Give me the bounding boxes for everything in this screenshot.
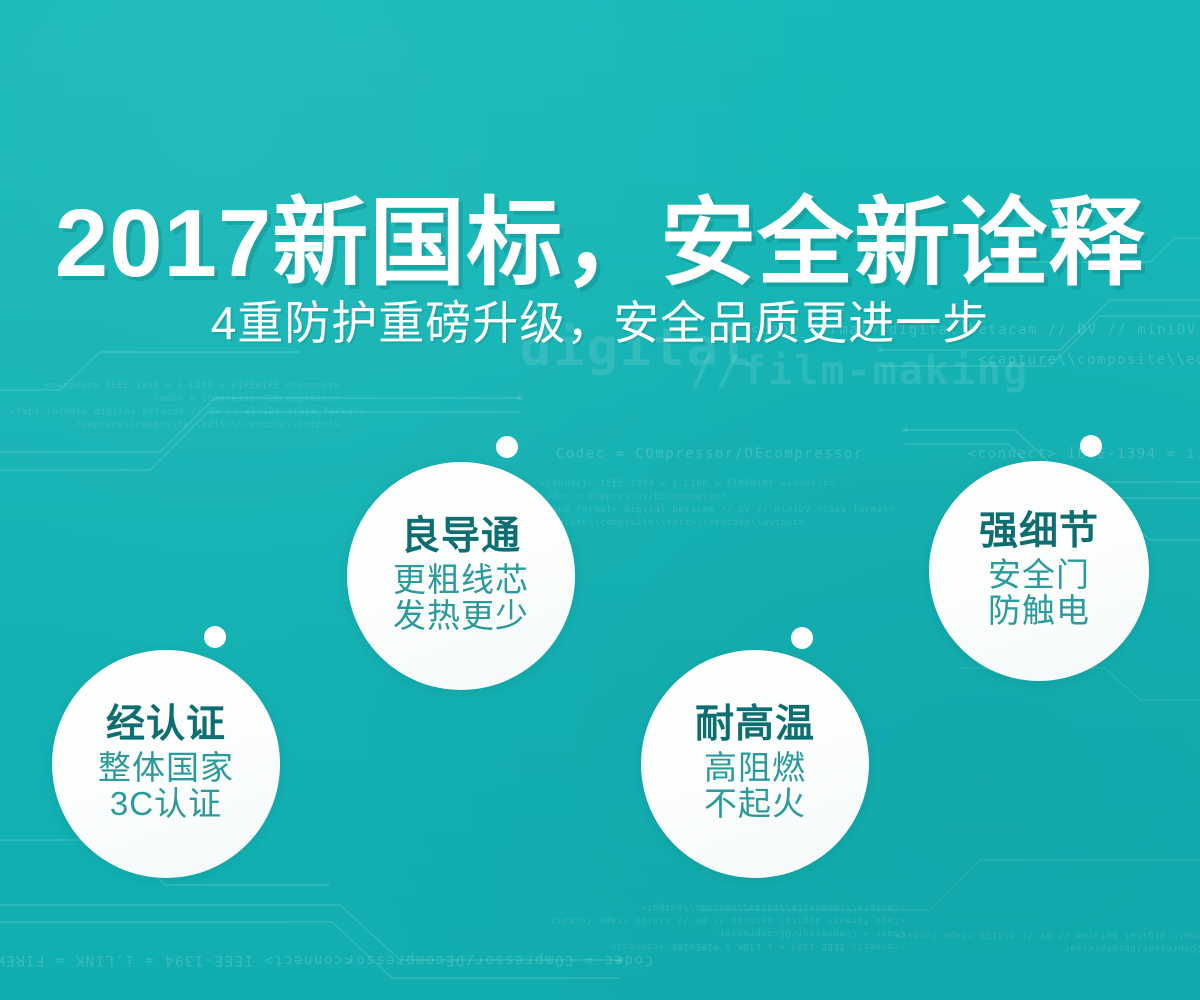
bg-block-bottom-right: Codec = COmpressor/DEcompressor <tape_fo… — [950, 928, 1200, 954]
feature-line-1: 更粗线芯 — [393, 562, 529, 599]
bg-block-line: <connect> IEEE-1394 = i.LINK = FIREWIRE … — [540, 478, 840, 491]
bg-block-line: <tape_format> digital betacam // DV // m… — [950, 928, 1200, 941]
bg-block-line: <tape_format> digital betacam // DV // m… — [575, 913, 905, 926]
feature-title: 耐高温 — [695, 705, 815, 746]
poster-canvas: digital //film-making <tape_format> digi… — [0, 0, 1200, 1000]
bg-block-line: <tape_format> digital betacam // DV // m… — [10, 406, 340, 419]
feature-bubble-certified[interactable]: 经认证 整体国家 3C认证 — [52, 650, 280, 878]
bg-block-line: <connect> IEEE-1394 = i.LINK = FIREWIRE … — [575, 939, 905, 952]
bg-block-line: <capture\\composite\\edit>\\<encode\\out… — [10, 419, 340, 432]
bg-block-mid: <connect> IEEE-1394 = i.LINK = FIREWIRE … — [540, 478, 840, 530]
page-subtitle: 4重防护重磅升级，安全品质更进一步 — [211, 296, 990, 351]
bg-line-codec: Codec = COmpressor/DEcompressor — [556, 446, 864, 462]
feature-line-1: 高阻燃 — [704, 750, 806, 787]
bg-block-line: Codec = COmpressor/DEcompressor — [950, 941, 1200, 954]
feature-line-1: 安全门 — [988, 557, 1090, 594]
feature-line-2: 发热更少 — [393, 598, 529, 635]
feature-bubble-detail[interactable]: 强细节 安全门 防触电 — [929, 461, 1149, 681]
bg-block-line: Codec = COmpressor/DEcompressor — [10, 393, 340, 406]
bg-block-line: Codec = COmpressor/DEcompressor — [575, 926, 905, 939]
feature-line-2: 不起火 — [704, 786, 806, 823]
feature-bubble-conductivity[interactable]: 良导通 更粗线芯 发热更少 — [347, 462, 575, 690]
bg-block-line: <tape_format> digital betacam // DV // m… — [540, 504, 840, 517]
feature-line-2: 防触电 — [988, 593, 1090, 630]
feature-title: 强细节 — [979, 512, 1099, 553]
circuit-lines-bottom-left — [0, 840, 620, 978]
feature-title: 良导通 — [401, 517, 521, 558]
bg-block-line: Codec = COmpressor/DEcompressor — [540, 491, 840, 504]
circuit-nodes — [517, 347, 908, 963]
feature-bubble-heat-resistant[interactable]: 耐高温 高阻燃 不起火 — [641, 650, 869, 878]
subheadline-container: 4重防护重磅升级，安全品质更进一步 — [0, 258, 1200, 390]
bg-line-connect-flipped: <connect> IEEE-1394 = i.LINK = FIREWIRE — [0, 952, 352, 968]
bubble-dot-certified — [204, 626, 226, 648]
bubble-dot-conductivity — [496, 436, 518, 458]
feature-line-1: 整体国家 — [98, 750, 234, 787]
bg-line-codec-flipped: Codec = COmpressor/DEcompressor — [345, 952, 653, 968]
bubble-dot-heat-resistant — [791, 627, 813, 649]
feature-title: 经认证 — [106, 705, 226, 746]
bg-block-line: <capture\\composite\\edit>\\<encode\\out… — [540, 517, 840, 530]
bg-block-line: <capture\\composite\\edit>\\<encode\\out… — [575, 900, 905, 913]
feature-line-2: 3C认证 — [110, 786, 222, 823]
bubble-dot-detail — [1080, 435, 1102, 457]
bg-block-bottom: <connect> IEEE-1394 = i.LINK = FIREWIRE … — [575, 900, 905, 952]
